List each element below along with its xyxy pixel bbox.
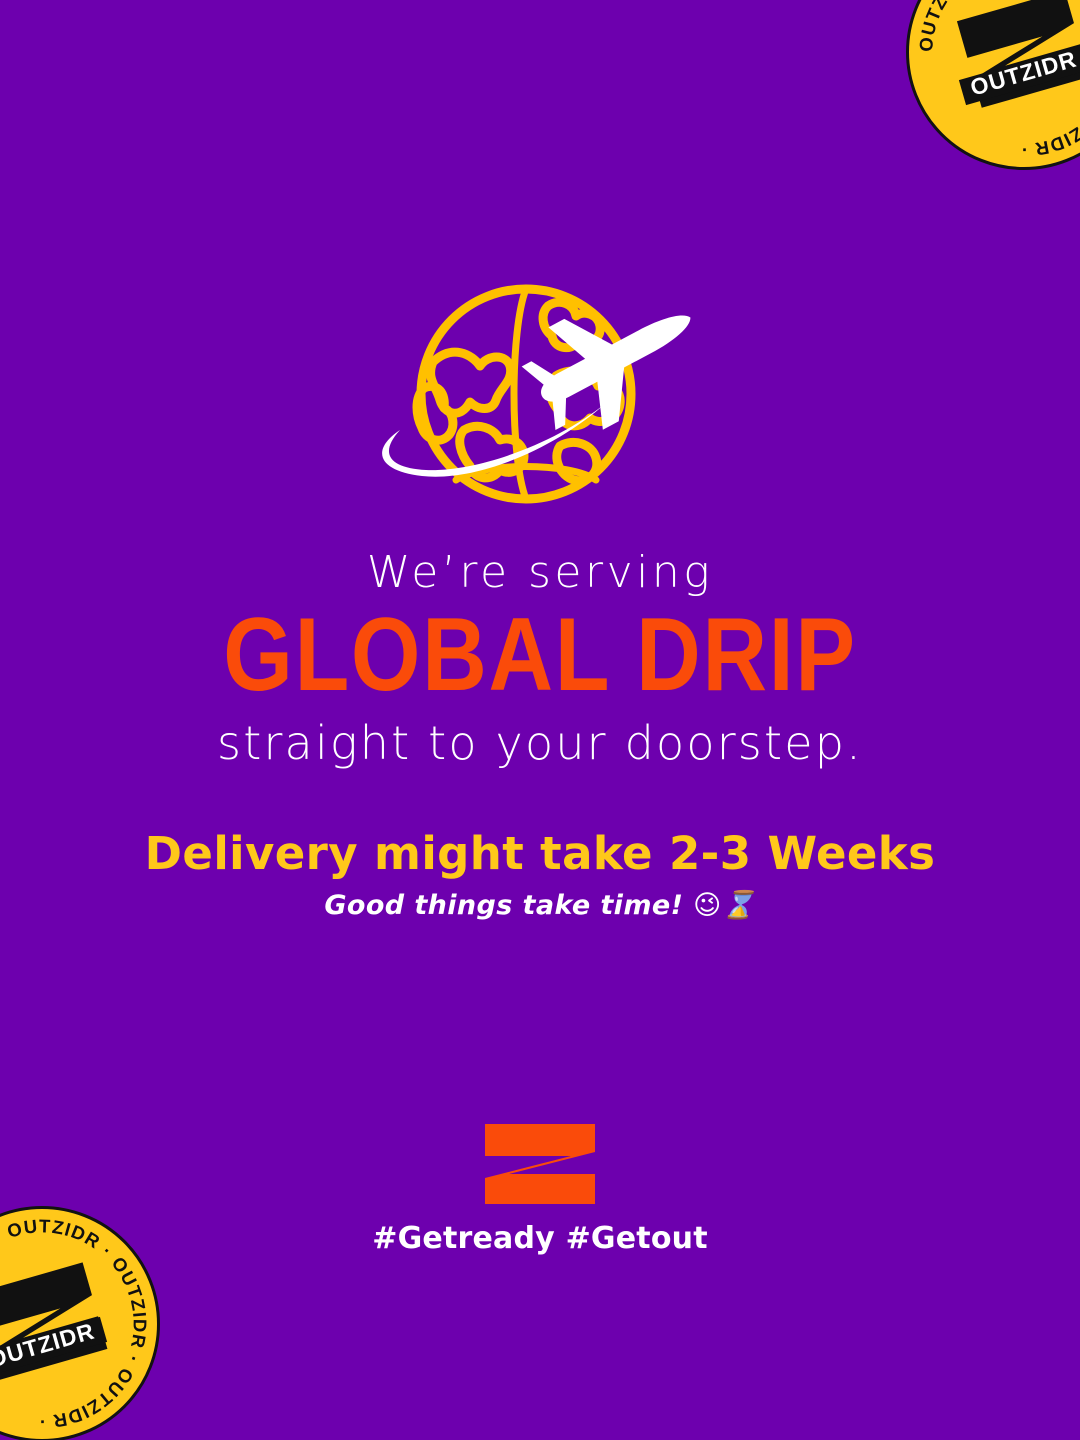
hero-art-svg [360, 270, 720, 520]
z-logo-svg [479, 1122, 601, 1206]
footer-tagline: #Getready #Getout [0, 1221, 1080, 1256]
reassurance-text: Good things take time! 😉⌛ [0, 890, 1080, 922]
badge-core-bottom-left: OUTZIDR [0, 1254, 112, 1394]
outzidr-z-mark: OUTZIDR [0, 1254, 112, 1394]
globe-airplane-illustration [360, 270, 720, 520]
copy-block: We’re serving GLOBAL DRIP straight to yo… [0, 548, 1080, 922]
outzidr-z-mark: OUTZIDR [954, 0, 1080, 122]
outzidr-badge-bottom-left: OUTZIDR · OUTZIDR · OUTZIDR · OUTZIDR · … [0, 1206, 160, 1440]
eyebrow-text: We’re serving [0, 548, 1080, 597]
subline-text: straight to your doorstep. [0, 717, 1080, 770]
outzidr-badge-top-right: OUTZIDR · OUTZIDR · OUTZIDR · OUTZIDR · … [906, 0, 1080, 170]
headline-text: GLOBAL DRIP [76, 603, 1005, 707]
promo-poster: OUTZIDR · OUTZIDR · OUTZIDR · OUTZIDR · … [0, 0, 1080, 1440]
footer-lockup: #Getready #Getout [0, 1122, 1080, 1256]
delivery-notice-text: Delivery might take 2-3 Weeks [0, 828, 1080, 880]
airplane-icon [511, 270, 717, 449]
badge-core-top-right: OUTZIDR [954, 0, 1080, 122]
outzidr-z-logo [479, 1122, 601, 1206]
